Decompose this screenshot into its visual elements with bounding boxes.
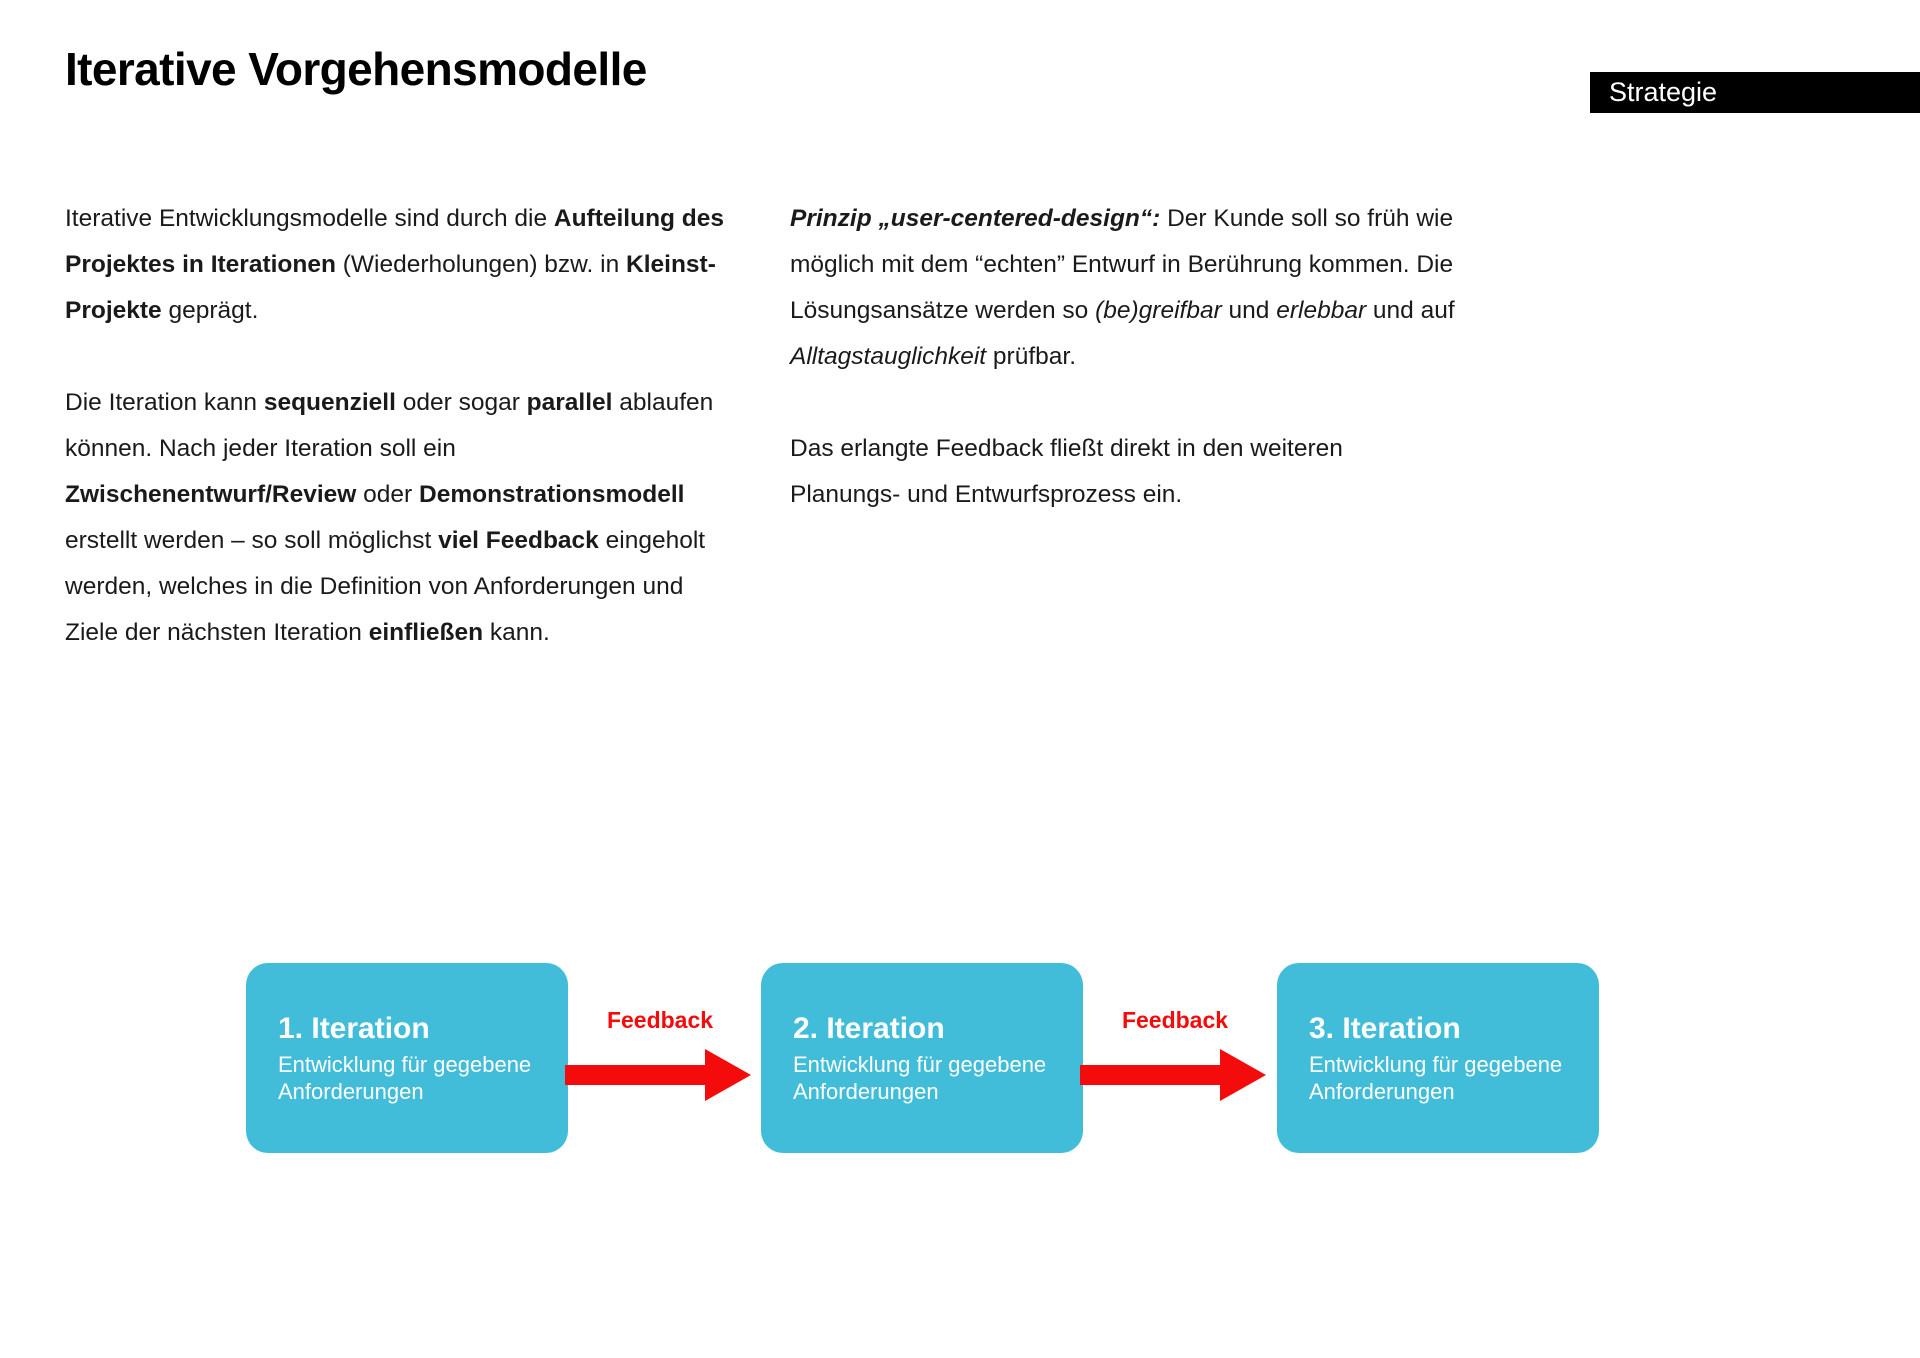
text-run: erstellt werden – so soll möglichst	[65, 527, 438, 554]
text-run-italic: (be)greifbar	[1095, 297, 1222, 324]
strategie-badge: Strategie	[1590, 72, 1920, 113]
feedback-connector-2: Feedback	[1070, 955, 1280, 1165]
iteration-box-title: 2. Iteration	[793, 1011, 1083, 1047]
feedback-connector-1: Feedback	[555, 955, 765, 1165]
text-run-bold: Demonstrationsmodell	[419, 481, 684, 508]
iteration-box-subtitle-line-1: Entwicklung für gegebene	[793, 1051, 1083, 1078]
text-run: Iterative Entwicklungsmodelle sind durch…	[65, 205, 554, 232]
text-run-italic: Alltagstauglichkeit	[790, 343, 986, 370]
right-arrow-icon	[565, 1045, 755, 1105]
feedback-label: Feedback	[555, 1007, 765, 1033]
right-paragraph-2: Das erlangte Feedback fließt direkt in d…	[790, 426, 1460, 518]
text-run: und	[1222, 297, 1277, 324]
left-text-column: Iterative Entwicklungsmodelle sind durch…	[65, 196, 730, 656]
iteration-box-title: 3. Iteration	[1309, 1011, 1599, 1047]
text-run: und auf	[1366, 297, 1455, 324]
text-run: prüfbar.	[986, 343, 1076, 370]
text-run: geprägt.	[162, 297, 259, 324]
text-run-bold: sequenziell	[264, 389, 396, 416]
iteration-box-1[interactable]: 1. Iteration Entwicklung für gegebene An…	[246, 963, 568, 1153]
iteration-box-subtitle-line-2: Anforderungen	[1309, 1078, 1599, 1105]
iteration-box-3[interactable]: 3. Iteration Entwicklung für gegebene An…	[1277, 963, 1599, 1153]
right-paragraph-1: Prinzip „user-centered-design“: Der Kund…	[790, 196, 1460, 380]
text-run-italic: erlebbar	[1276, 297, 1366, 324]
text-run: (Wiederholungen) bzw. in	[336, 251, 626, 278]
slide-canvas: Iterative Vorgehensmodelle Strategie Ite…	[0, 0, 1920, 1358]
text-run-bold: Zwischenentwurf/Review	[65, 481, 356, 508]
iteration-flow-diagram: 1. Iteration Entwicklung für gegebene An…	[0, 955, 1920, 1175]
left-paragraph-1: Iterative Entwicklungsmodelle sind durch…	[65, 196, 730, 334]
page-title: Iterative Vorgehensmodelle	[65, 42, 647, 96]
right-arrow-icon	[1080, 1045, 1270, 1105]
text-run: Die Iteration kann	[65, 389, 264, 416]
iteration-box-subtitle-line-1: Entwicklung für gegebene	[278, 1051, 568, 1078]
text-run: oder sogar	[396, 389, 527, 416]
principle-heading: Prinzip „user-centered-design“:	[790, 205, 1160, 232]
right-text-column: Prinzip „user-centered-design“: Der Kund…	[790, 196, 1460, 518]
feedback-label: Feedback	[1070, 1007, 1280, 1033]
iteration-box-title: 1. Iteration	[278, 1011, 568, 1047]
iteration-box-subtitle-line-1: Entwicklung für gegebene	[1309, 1051, 1599, 1078]
text-run: oder	[356, 481, 419, 508]
iteration-box-subtitle-line-2: Anforderungen	[793, 1078, 1083, 1105]
text-run-bold: viel Feedback	[438, 527, 599, 554]
text-run-bold: parallel	[527, 389, 613, 416]
text-run-bold: einfließen	[369, 619, 483, 646]
left-paragraph-2: Die Iteration kann sequenziell oder soga…	[65, 380, 730, 656]
text-run: kann.	[483, 619, 550, 646]
text-run: Das erlangte Feedback fließt direkt in d…	[790, 435, 1343, 508]
iteration-box-2[interactable]: 2. Iteration Entwicklung für gegebene An…	[761, 963, 1083, 1153]
iteration-box-subtitle-line-2: Anforderungen	[278, 1078, 568, 1105]
